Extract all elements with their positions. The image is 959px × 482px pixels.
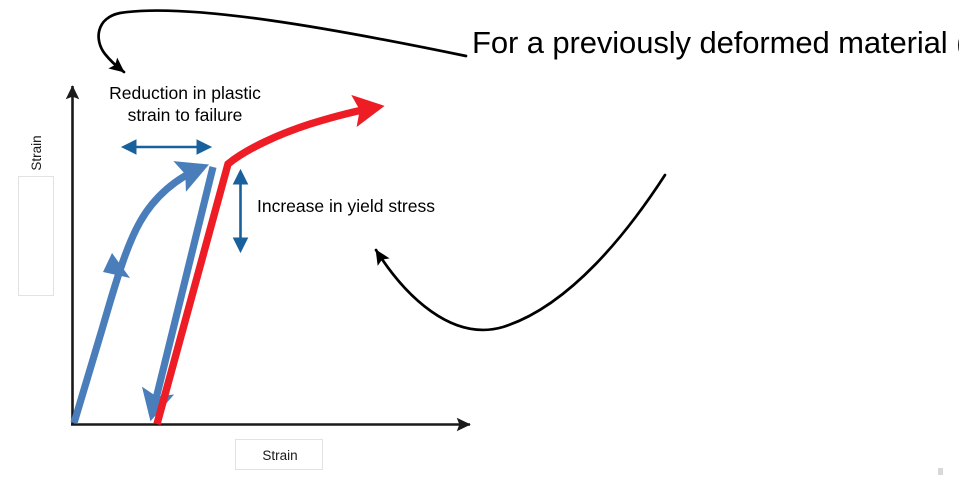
reduction-in-plastic-strain-label: Reduction in plastic strain to failure xyxy=(80,82,290,126)
curved-pointer-top xyxy=(99,11,466,72)
blue-unloading-line xyxy=(152,167,213,415)
pointer-arrow-to-plot xyxy=(99,11,466,72)
increase-in-yield-stress-label: Increase in yield stress xyxy=(257,196,435,217)
diagram-artboard xyxy=(0,0,959,482)
original-material-unloading-blue xyxy=(152,167,213,415)
x-axis-label-box: Strain xyxy=(235,439,323,470)
body-paragraph: For a previously deformed material (the … xyxy=(472,22,942,63)
y-axis-label-box: Strain xyxy=(18,176,54,296)
corner-artifact-mark xyxy=(938,468,943,475)
x-axis-label: Strain xyxy=(236,440,324,471)
y-axis-label: Strain xyxy=(19,93,55,213)
slide-canvas: For a previously deformed material (the … xyxy=(0,0,959,482)
